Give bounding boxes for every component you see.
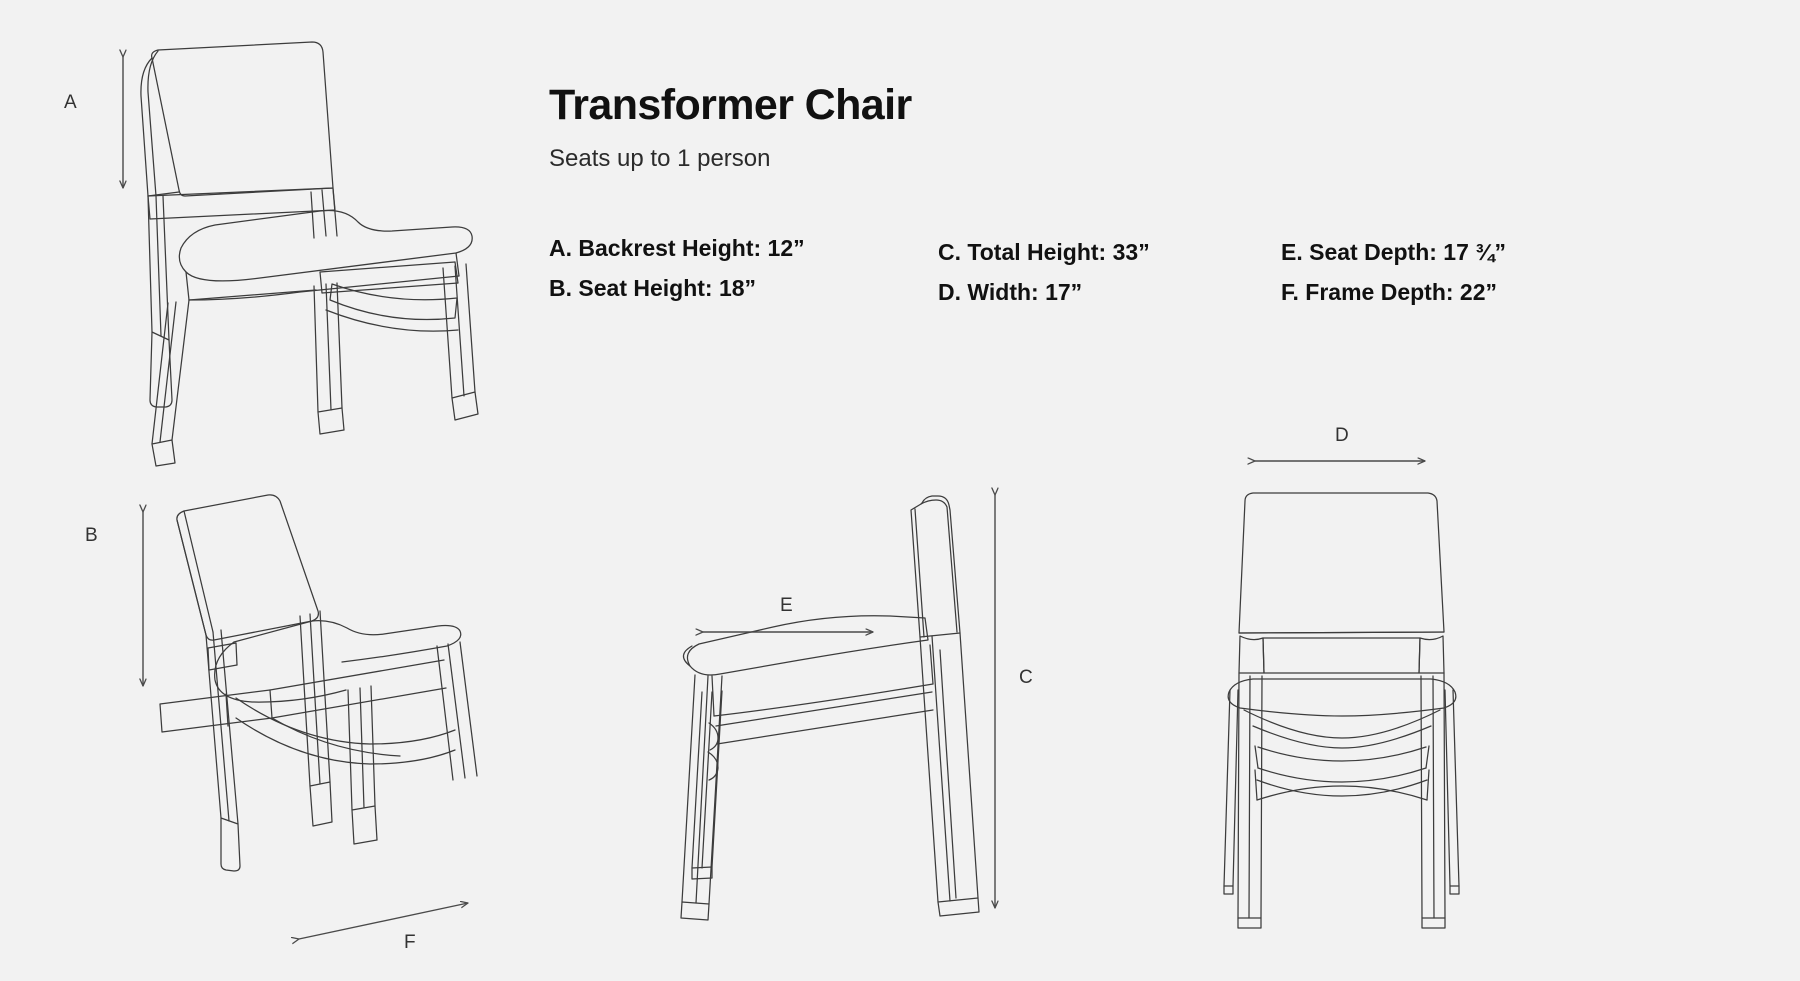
dimension-label-f: F [404,932,416,953]
chair-view-front [1224,493,1459,928]
chair-view-rear-three-quarter [160,495,477,871]
dimension-arrow-c: C [995,495,1033,908]
chair-drawings: A [0,0,1800,981]
dimension-arrow-f: F [299,903,468,953]
dimension-arrow-b: B [85,512,143,686]
dimension-arrow-e: E [703,595,873,632]
dimension-label-d: D [1335,425,1349,446]
dimension-label-a: A [64,92,77,113]
chair-view-front-three-quarter [141,42,478,466]
dimension-label-b: B [85,525,98,546]
chair-view-side [681,496,979,920]
dimension-label-e: E [780,595,793,616]
dimension-arrow-a: A [64,57,123,188]
dimension-arrow-d: D [1255,425,1425,461]
diagram-canvas: Transformer Chair Seats up to 1 person A… [0,0,1800,981]
dimension-label-c: C [1019,667,1033,688]
